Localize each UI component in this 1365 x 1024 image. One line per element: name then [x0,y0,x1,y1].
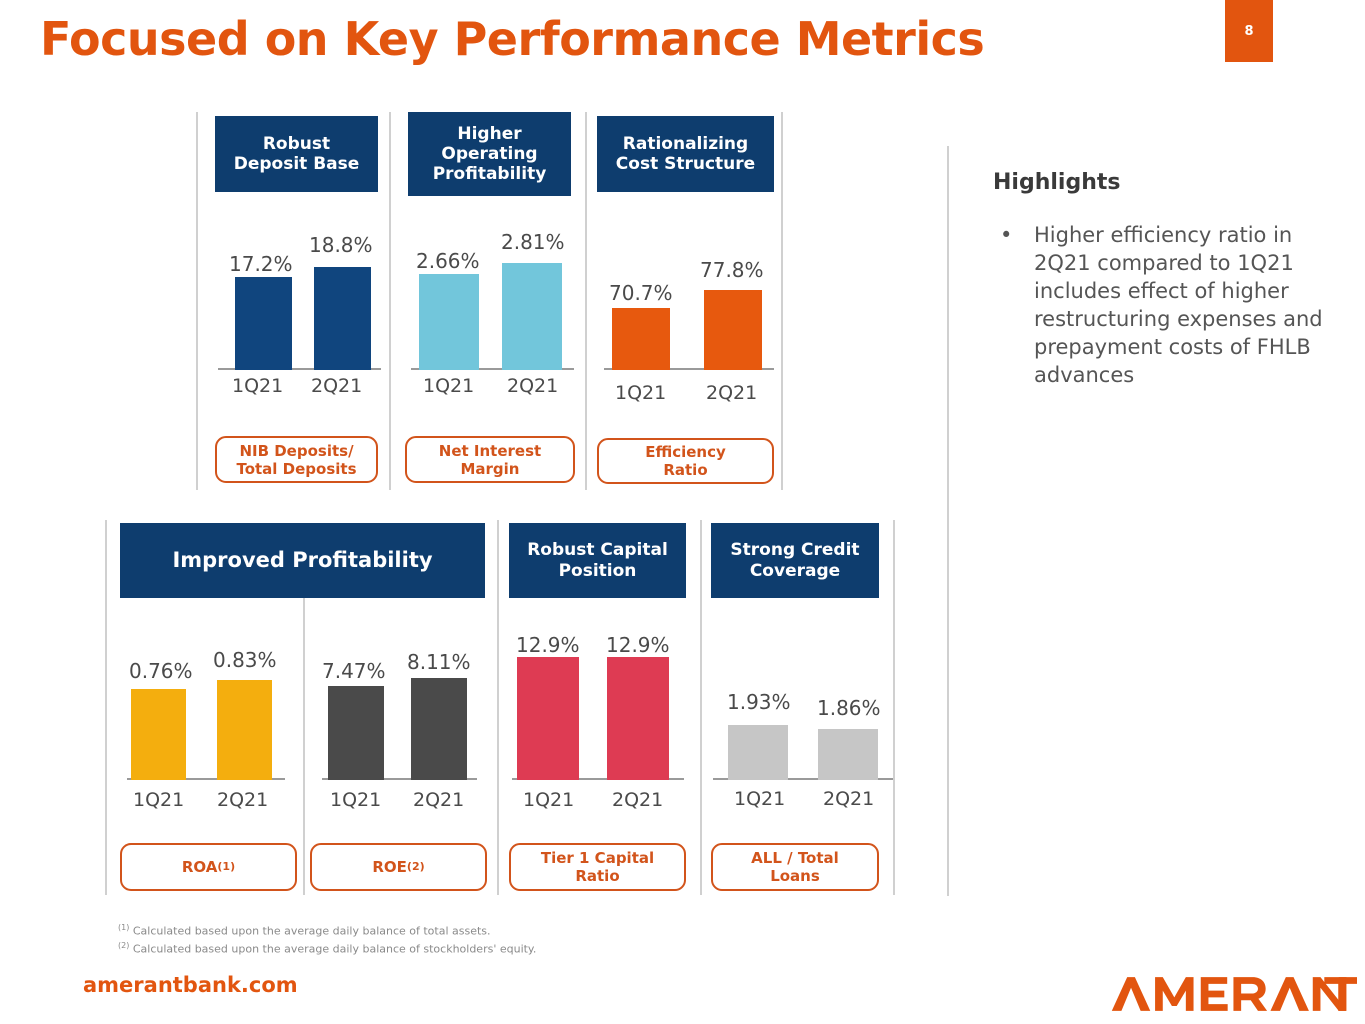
page-number-badge: 8 [1225,0,1273,62]
panel-header-deposit: RobustDeposit Base [215,116,378,192]
panel-header-improved-profitability: Improved Profitability [120,523,485,598]
chart-efficiency-ratio [604,300,774,370]
bar-1q21 [612,308,670,370]
highlight-item-text: Higher efficiency ratio in 2Q21 compared… [1034,222,1350,390]
tag-all-total-loans[interactable]: ALL / TotalLoans [711,843,879,891]
divider-bottom-3 [700,520,702,895]
panel-header-nim: HigherOperatingProfitability [408,112,571,196]
footnote-2-marker: (2) [118,941,129,950]
bar-cat-roa-2q21: 2Q21 [217,789,268,811]
divider-bottom-right [893,520,895,895]
tag-efficiency-ratio[interactable]: EfficiencyRatio [597,438,774,484]
amerant-logo [1107,968,1357,1020]
tag-nib-deposits[interactable]: NIB Deposits/Total Deposits [215,436,378,483]
bar-value-2q21: 12.9% [606,633,670,657]
bar-value-roa-1q21: 0.76% [129,659,193,683]
tag-net-interest-margin[interactable]: Net InterestMargin [405,436,575,483]
bullet-icon: • [1000,222,1034,390]
bar-cat-roe-2q21: 2Q21 [413,789,464,811]
bar-cat-1q21: 1Q21 [734,788,785,810]
divider-top-right [781,112,783,490]
bar-value-1q21: 2.66% [416,249,480,273]
bar-1q21 [328,686,384,780]
divider-bottom-2 [497,520,499,895]
tag-roa-label: ROA [182,858,218,876]
bar-value-2q21: 2.81% [501,230,565,254]
bar-cat-1q21: 1Q21 [523,789,574,811]
footnotes: (1) Calculated based upon the average da… [118,922,536,957]
footnote-2-text: Calculated based upon the average daily … [133,942,537,955]
highlights-heading: Highlights [993,170,1120,195]
bar-value-1q21: 12.9% [516,633,580,657]
footnote-2: (2) Calculated based upon the average da… [118,940,536,958]
bar-2q21 [502,263,562,370]
bar-2q21 [607,657,669,780]
highlight-item: • Higher efficiency ratio in 2Q21 compar… [1000,222,1350,390]
footnote-1-marker: (1) [118,923,129,932]
bar-value-2q21: 18.8% [309,233,373,257]
bar-1q21 [517,657,579,780]
panel-header-credit: Strong CreditCoverage [711,523,879,598]
bar-2q21 [217,680,272,780]
bar-value-roa-2q21: 0.83% [213,648,277,672]
bar-value-2q21: 1.86% [817,696,881,720]
chart-tier1-capital-ratio [512,655,684,780]
footnote-1: (1) Calculated based upon the average da… [118,922,536,940]
bar-2q21 [818,729,878,780]
chart-all-total-loans [713,723,893,780]
bar-cat-2q21: 2Q21 [507,375,558,397]
tag-roa-footnote-marker: (1) [217,860,235,873]
highlights-list: • Higher efficiency ratio in 2Q21 compar… [1000,222,1350,390]
bar-1q21 [419,274,479,370]
divider-top-2 [585,112,587,490]
divider-highlights [947,146,949,896]
bar-cat-roe-1q21: 1Q21 [330,789,381,811]
chart-roa [127,680,285,780]
bar-1q21 [235,277,292,370]
bar-value-2q21: 77.8% [700,258,764,282]
divider-top-left [196,112,198,490]
panel-header-capital: Robust CapitalPosition [509,523,686,598]
divider-top-1 [389,112,391,490]
tag-roa[interactable]: ROA (1) [120,843,297,891]
bar-1q21 [728,725,788,780]
bar-value-1q21: 1.93% [727,690,791,714]
footnote-1-text: Calculated based upon the average daily … [133,925,491,938]
divider-bottom-1 [303,598,305,895]
chart-roe [322,680,477,780]
bar-cat-2q21: 2Q21 [612,789,663,811]
bar-cat-1q21: 1Q21 [615,382,666,404]
bar-cat-2q21: 2Q21 [823,788,874,810]
bar-1q21 [131,689,186,780]
bar-value-1q21: 70.7% [609,281,673,305]
bar-cat-1q21: 1Q21 [232,375,283,397]
bar-value-1q21: 17.2% [229,252,293,276]
tag-roe-footnote-marker: (2) [407,860,425,873]
divider-bottom-left [105,520,107,895]
bar-2q21 [314,267,371,370]
bar-value-roe-2q21: 8.11% [407,650,471,674]
bar-2q21 [411,678,467,780]
website-url[interactable]: amerantbank.com [83,973,298,997]
tag-roe[interactable]: ROE (2) [310,843,487,891]
bar-2q21 [704,290,762,370]
tag-roe-label: ROE [372,858,407,876]
bar-cat-1q21: 1Q21 [423,375,474,397]
tag-tier1-capital-ratio[interactable]: Tier 1 CapitalRatio [509,843,686,891]
bar-cat-2q21: 2Q21 [706,382,757,404]
panel-header-cost: RationalizingCost Structure [597,116,774,192]
bar-cat-2q21: 2Q21 [311,375,362,397]
bar-cat-roa-1q21: 1Q21 [133,789,184,811]
bar-value-roe-1q21: 7.47% [322,659,386,683]
page-title: Focused on Key Performance Metrics [40,12,984,66]
